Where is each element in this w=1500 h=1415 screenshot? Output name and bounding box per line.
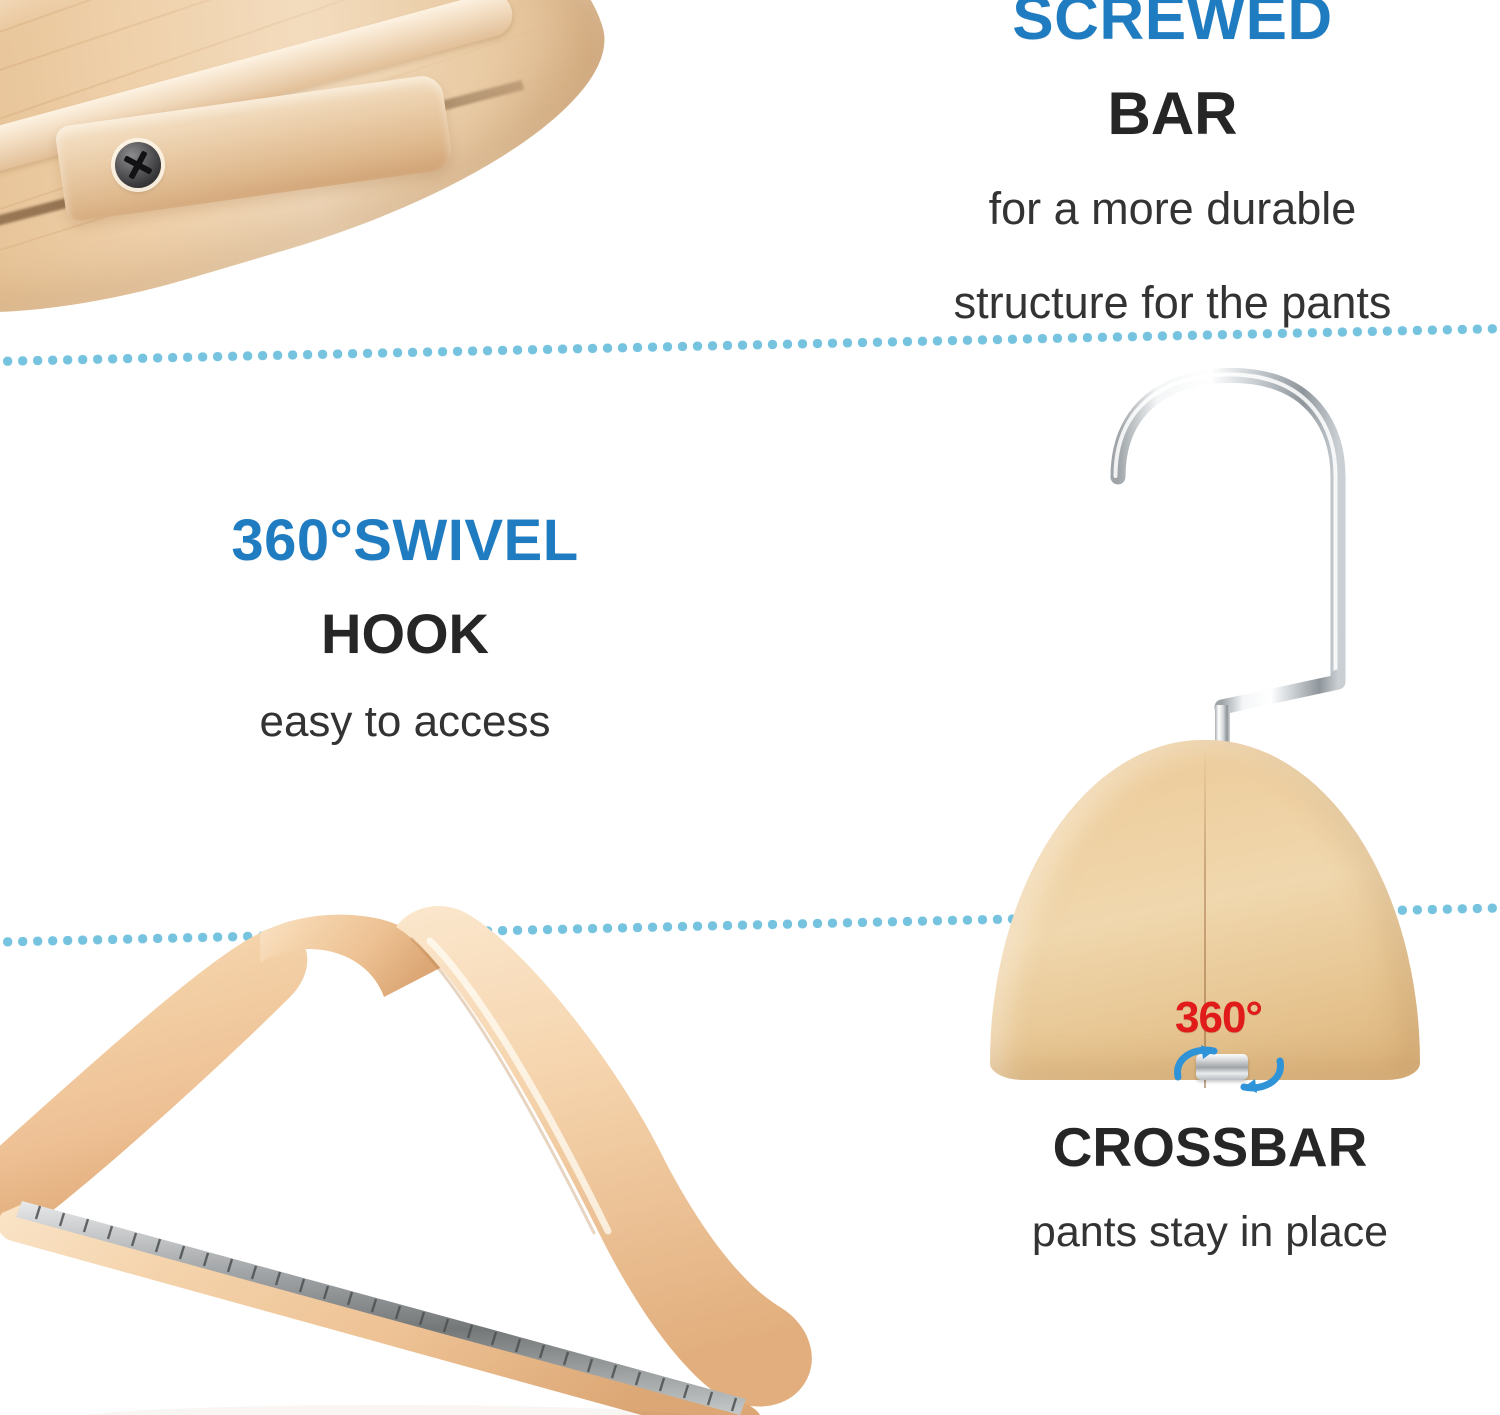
feature-desc-line1-crossbar: pants stay in place (940, 1211, 1480, 1254)
feature-desc-line2-screwed: structure for the pants (845, 274, 1500, 332)
feature-title-hook: HOOK (95, 606, 715, 662)
rotation-arrows-icon (1162, 1033, 1302, 1103)
infographic-canvas: SCREWED BAR for a more durable structure… (0, 0, 1500, 1415)
wood-shoulder-closeup-illustration (0, 0, 645, 350)
feature-block-swivel-hook: 360°SWIVEL HOOK easy to access (95, 512, 715, 744)
feature-kicker-screwed: SCREWED (845, 0, 1500, 50)
hanger-body-vector (0, 905, 860, 1415)
feature-title-crossbar: CROSSBAR (940, 1120, 1480, 1175)
hanger-crossbar-illustration (0, 905, 820, 1415)
feature-desc-line1-screwed: for a more durable (845, 180, 1500, 238)
feature-desc-line1-swivel: easy to access (95, 700, 715, 744)
feature-kicker-swivel: 360°SWIVEL (95, 512, 715, 570)
feature-title-bar: BAR (845, 84, 1500, 144)
hanger-left-arm (0, 928, 307, 1232)
feature-block-screwed-bar: SCREWED BAR for a more durable structure… (845, 0, 1500, 331)
screw-icon (115, 142, 161, 188)
swivel-hook-illustration: 360° (1000, 355, 1430, 915)
